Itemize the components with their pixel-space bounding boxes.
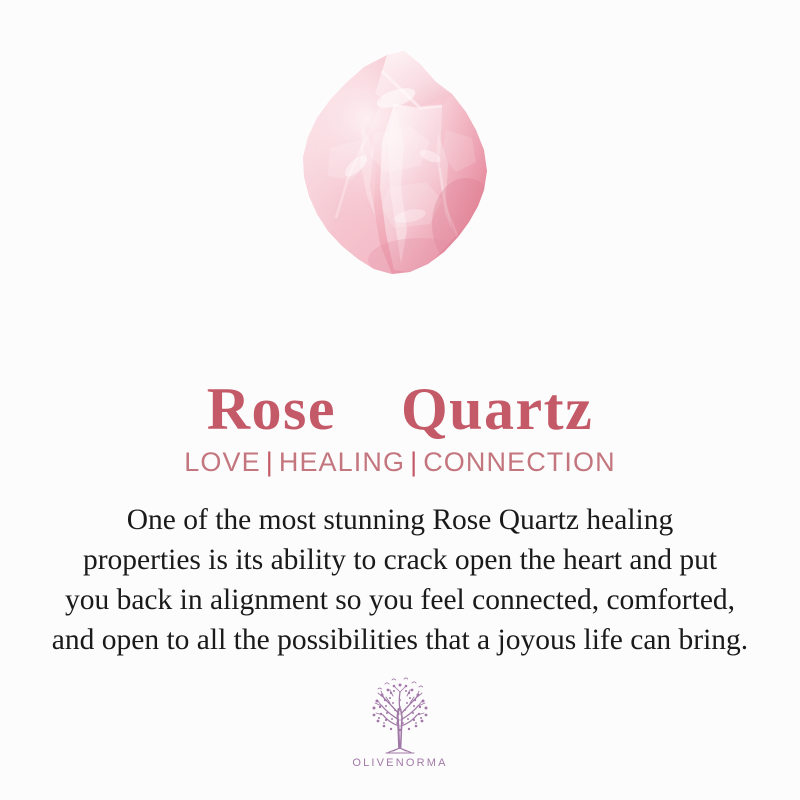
- crystal-facets: [290, 46, 500, 282]
- tagline-word-healing: HEALING: [279, 447, 405, 477]
- tagline-word-connection: CONNECTION: [423, 447, 616, 477]
- description-line: properties is its ability to crack open …: [24, 540, 776, 580]
- brand-wordmark: OLIVENORMA: [0, 757, 800, 769]
- tree-of-life-icon: [357, 676, 443, 756]
- tagline-word-love: LOVE: [184, 447, 260, 477]
- description-paragraph: One of the most stunning Rose Quartz hea…: [24, 500, 776, 660]
- keyword-tagline: LOVE|HEALING|CONNECTION: [0, 446, 800, 478]
- infographic-card: Rose Quartz LOVE|HEALING|CONNECTION One …: [0, 0, 800, 800]
- tagline-separator: |: [405, 447, 423, 477]
- tagline-separator: |: [261, 447, 279, 477]
- brand-logo: OLIVENORMA: [0, 676, 800, 769]
- description-line: One of the most stunning Rose Quartz hea…: [24, 500, 776, 540]
- page-title: Rose Quartz: [0, 376, 800, 442]
- hero-image-container: [0, 38, 800, 296]
- description-line: you back in alignment so you feel connec…: [24, 580, 776, 620]
- description-line: and open to all the possibilities that a…: [24, 620, 776, 660]
- rose-quartz-crystal-image: [270, 38, 530, 296]
